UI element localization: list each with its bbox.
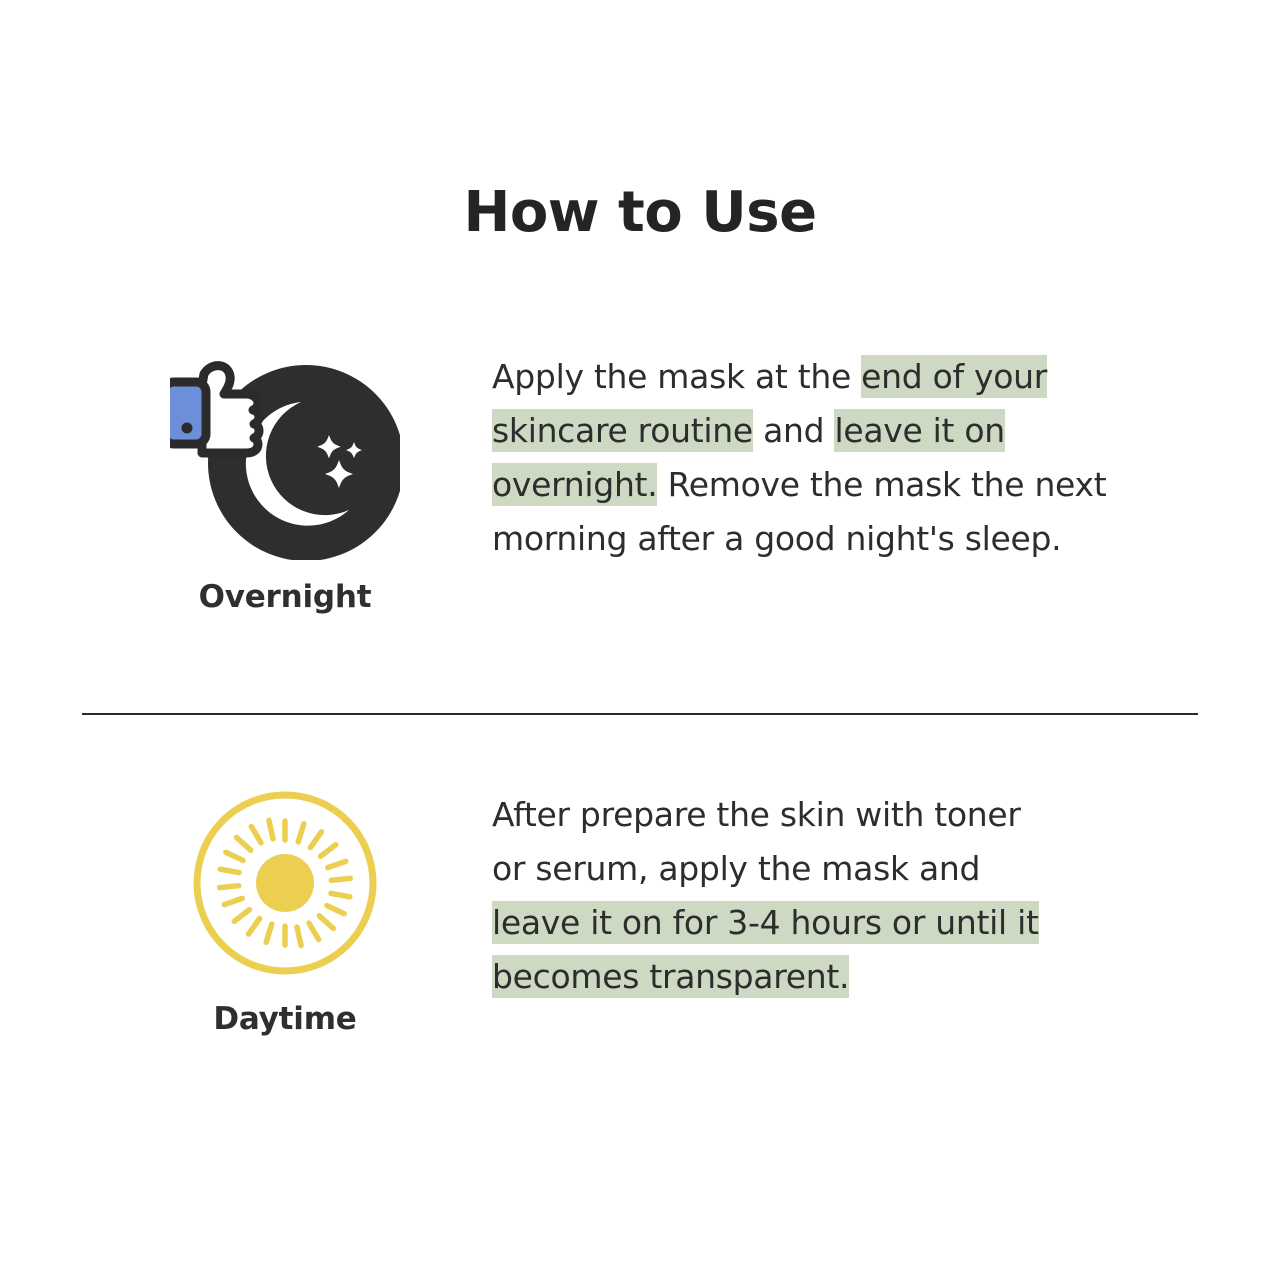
page-title: How to Use: [0, 182, 1280, 244]
section-divider: [82, 713, 1198, 715]
overnight-moon-icon: [150, 350, 420, 565]
overnight-label: Overnight: [150, 579, 420, 615]
text-run: After prepare the skin with toner or ser…: [492, 795, 1021, 888]
overnight-description: Apply the mask at the end of your skinca…: [492, 350, 1132, 566]
daytime-icon-column: Daytime: [150, 788, 420, 1037]
thumbs-up-icon: [170, 366, 259, 453]
text-run: and: [753, 411, 835, 450]
daytime-description: After prepare the skin with toner or ser…: [492, 788, 1052, 1004]
daytime-label: Daytime: [150, 1001, 420, 1037]
highlight-run: leave it on for 3-4 hours or until it be…: [492, 901, 1039, 998]
text-run: Apply the mask at the: [492, 357, 861, 396]
overnight-icon-column: Overnight: [150, 350, 420, 615]
daytime-sun-icon: [150, 788, 420, 983]
how-to-use-page: How to Use: [0, 0, 1280, 1280]
